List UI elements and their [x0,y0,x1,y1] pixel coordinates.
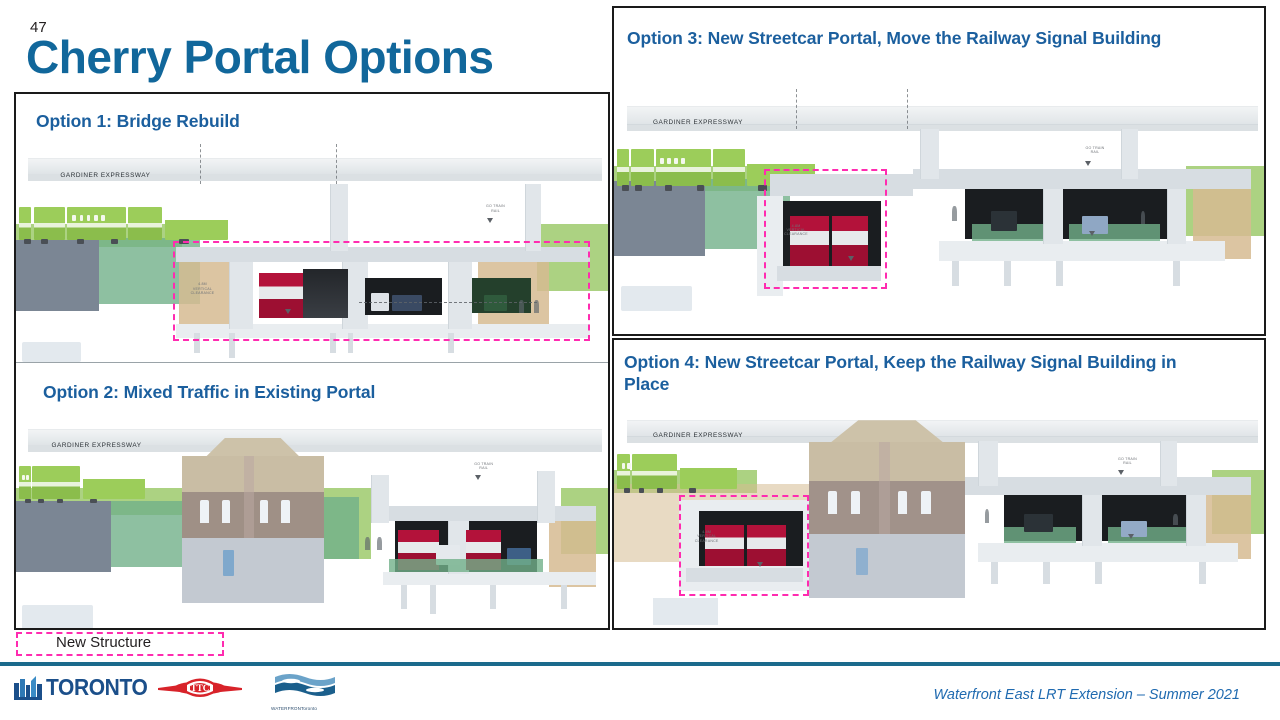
go-train-rail-label: GO TRAIN RAIL [1069,146,1121,155]
page-title: Cherry Portal Options [26,33,493,81]
waterfront-toronto-logo: WATERFRONToronto [269,673,341,711]
person-silhouette [1141,211,1146,224]
car-vehicle [1082,216,1108,234]
city-of-toronto-logo: TORONTO [14,673,132,705]
rail-level-arrow [487,218,493,223]
rail-level-arrow [1118,470,1124,475]
person-silhouette [952,206,957,221]
option-1-title: Option 1: Bridge Rebuild [36,111,240,133]
footer-divider [0,662,1280,666]
gardiner-expressway-label: GARDINER EXPRESSWAY [52,442,142,449]
option-2-rendering: GARDINER EXPRESSWAY [16,409,608,629]
option-3-rendering: GARDINER EXPRESSWAY [614,86,1264,336]
foundation-pile [1004,261,1011,286]
railway-signal-building [182,438,324,603]
retaining-wall [16,240,99,311]
foreground-slab [653,598,718,625]
gardiner-expressway-label: GARDINER EXPRESSWAY [653,119,743,126]
gardiner-pier [1121,129,1138,179]
svg-text:TTC: TTC [191,683,210,693]
new-structure-callout-option-4 [679,495,809,595]
guide-line [200,144,201,184]
person-silhouette [1173,514,1178,525]
footer-note: Waterfront East LRT Extension – Summer 2… [933,687,1240,703]
portal-deck [383,506,596,521]
legend-new-structure-label: New Structure [56,634,151,651]
gardiner-pier [920,129,940,179]
gardiner-pier [1160,441,1177,487]
rail-level-arrow [1085,161,1091,166]
gardiner-pier [371,475,389,523]
foreground-slab [621,286,693,311]
car-vehicle [1024,514,1053,532]
go-train [19,466,167,499]
portal-pier [1082,495,1102,545]
portal-deck [965,477,1251,495]
person-silhouette [377,537,382,550]
portal-invert [978,543,1238,561]
guide-line [336,144,337,184]
retaining-wall [614,181,705,256]
foreground-slab [22,342,81,362]
railway-signal-building [809,420,965,598]
ttc-logo: TTC [154,675,246,703]
car-vehicle [1121,521,1147,537]
portal-pier [1043,189,1063,244]
rail-level-arrow [475,475,481,480]
toronto-buildings-icon [14,676,42,700]
gardiner-pier [978,441,998,487]
go-train [19,207,262,240]
person-silhouette [365,537,370,550]
car-vehicle [991,211,1017,231]
foundation-pile [1043,562,1050,585]
foundation-pile [430,585,436,614]
foundation-pile [1056,261,1063,286]
waterfront-waves-icon [269,673,341,703]
person-silhouette [985,509,990,523]
gardiner-pier [537,471,555,524]
foundation-pile [1173,261,1180,286]
portal-deck [913,169,1251,189]
option-2-title: Option 2: Mixed Traffic in Existing Port… [43,382,375,404]
subpanel-option-1: Option 1: Bridge Rebuild GARDINER EXPRES… [16,94,608,362]
clearance-arrow [1089,231,1095,236]
gardiner-expressway-label: GARDINER EXPRESSWAY [60,172,150,179]
panel-option-4: Option 4: New Streetcar Portal, Keep the… [612,338,1266,630]
new-structure-callout-option-1 [173,241,590,341]
toronto-wordmark: TORONTO [46,675,147,702]
portal-pier [1167,189,1187,244]
portal-invert [383,572,596,585]
foreground-slab [22,605,93,629]
subpanel-option-2: Option 2: Mixed Traffic in Existing Port… [16,362,608,628]
guide-line [796,89,797,129]
go-train [617,454,760,488]
retaining-wall [16,501,111,571]
foundation-pile [952,261,959,286]
gardiner-expressway-label: GARDINER EXPRESSWAY [653,432,743,439]
panel-options-1-and-2: Option 1: Bridge Rebuild GARDINER EXPRES… [14,92,610,630]
slide-cherry-portal-options: 47 Cherry Portal Options Option 1: Bridg… [0,0,1280,720]
median-green [1108,527,1186,543]
panel-option-3: Option 3: New Streetcar Portal, Move the… [612,6,1266,336]
option-4-rendering: GARDINER EXPRESSWAY [614,402,1264,630]
go-train-rail-label: GO TRAIN RAIL [460,462,507,471]
option-1-rendering: GARDINER EXPRESSWAY [16,140,608,362]
foundation-pile [1199,562,1206,585]
go-train-rail-label: GO TRAIN RAIL [1102,457,1154,466]
foundation-pile [561,585,567,609]
foundation-pile [490,585,496,609]
clearance-arrow [1128,534,1134,539]
median-green [389,559,543,572]
option-4-title: Option 4: New Streetcar Portal, Keep the… [624,352,1224,396]
portal-invert [939,241,1225,261]
foundation-pile [1095,562,1102,585]
option-3-title: Option 3: New Streetcar Portal, Move the… [627,28,1227,50]
waterfront-toronto-wordmark: WATERFRONToronto [271,706,317,711]
new-structure-callout-option-3 [764,169,888,289]
foundation-pile [991,562,998,585]
go-train-rail-label: GO TRAIN RAIL [472,204,519,213]
guide-line [907,89,908,129]
foundation-pile [401,585,407,609]
portal-pier [1186,495,1206,545]
